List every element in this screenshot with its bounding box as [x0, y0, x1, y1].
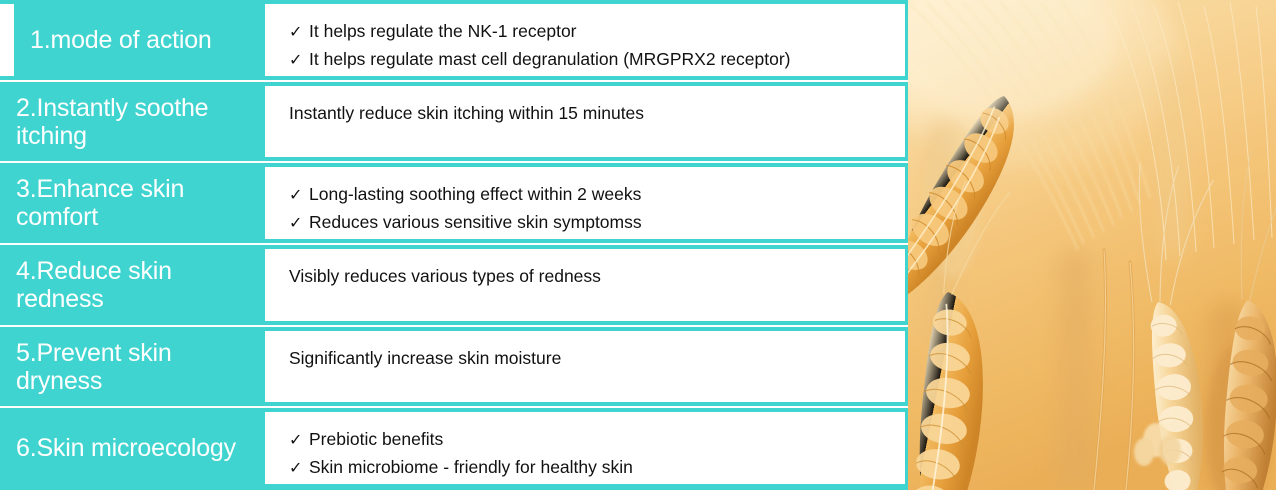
feature-text: Significantly increase skin moisture — [289, 345, 893, 371]
feature-row[interactable]: 4.Reduce skin redness Visibly reduces va… — [0, 245, 908, 325]
list-item: ✓ It helps regulate mast cell degranulat… — [289, 46, 893, 74]
feature-content: Visibly reduces various types of redness — [262, 249, 908, 321]
feature-text: Instantly reduce skin itching within 15 … — [289, 100, 893, 126]
feature-label: 3.Enhance skin comfort — [0, 167, 262, 239]
feature-content: ✓ Long-lasting soothing effect within 2 … — [262, 167, 908, 239]
feature-row[interactable]: 1.mode of action ✓ It helps regulate the… — [0, 0, 908, 80]
feature-row[interactable]: 3.Enhance skin comfort ✓ Long-lasting so… — [0, 163, 908, 243]
feature-content: Instantly reduce skin itching within 15 … — [262, 86, 908, 158]
feature-label: 1.mode of action — [14, 4, 262, 76]
check-icon: ✓ — [289, 21, 309, 46]
list-item: ✓ Long-lasting soothing effect within 2 … — [289, 181, 893, 209]
wheat-field-photo — [908, 0, 1276, 490]
list-item-text: Skin microbiome - friendly for healthy s… — [309, 454, 633, 481]
list-item-text: It helps regulate mast cell degranulatio… — [309, 46, 790, 73]
list-item: ✓ It helps regulate the NK-1 receptor — [289, 18, 893, 46]
list-item: ✓ Reduces various sensitive skin symptom… — [289, 209, 893, 237]
list-item-text: It helps regulate the NK-1 receptor — [309, 18, 577, 45]
list-item-text: Long-lasting soothing effect within 2 we… — [309, 181, 641, 208]
list-item-text: Prebiotic benefits — [309, 426, 443, 453]
feature-list: 1.mode of action ✓ It helps regulate the… — [0, 0, 908, 490]
check-icon: ✓ — [289, 429, 309, 454]
feature-label: 2.Instantly soothe itching — [0, 86, 262, 158]
feature-row[interactable]: 5.Prevent skin dryness Significantly inc… — [0, 327, 908, 407]
check-icon: ✓ — [289, 212, 309, 237]
check-icon: ✓ — [289, 184, 309, 209]
bullet-list: ✓ Prebiotic benefits ✓ Skin microbiome -… — [289, 426, 893, 482]
feature-row[interactable]: 2.Instantly soothe itching Instantly red… — [0, 82, 908, 162]
feature-content: ✓ Prebiotic benefits ✓ Skin microbiome -… — [262, 412, 908, 484]
bullet-list: ✓ Long-lasting soothing effect within 2 … — [289, 181, 893, 237]
check-icon: ✓ — [289, 457, 309, 482]
check-icon: ✓ — [289, 49, 309, 74]
list-item: ✓ Skin microbiome - friendly for healthy… — [289, 454, 893, 482]
feature-label: 6.Skin microecology — [0, 412, 262, 484]
list-item: ✓ Prebiotic benefits — [289, 426, 893, 454]
feature-content: Significantly increase skin moisture — [262, 331, 908, 403]
bottom-accent-strip — [0, 486, 908, 490]
infographic-root: 1.mode of action ✓ It helps regulate the… — [0, 0, 1276, 490]
feature-label: 5.Prevent skin dryness — [0, 331, 262, 403]
feature-label: 4.Reduce skin redness — [0, 249, 262, 321]
feature-text: Visibly reduces various types of redness — [289, 263, 893, 289]
feature-row[interactable]: 6.Skin microecology ✓ Prebiotic benefits… — [0, 408, 908, 488]
list-item-text: Reduces various sensitive skin symptomss — [309, 209, 642, 236]
bullet-list: ✓ It helps regulate the NK-1 receptor ✓ … — [289, 18, 893, 74]
feature-content: ✓ It helps regulate the NK-1 receptor ✓ … — [262, 4, 908, 76]
